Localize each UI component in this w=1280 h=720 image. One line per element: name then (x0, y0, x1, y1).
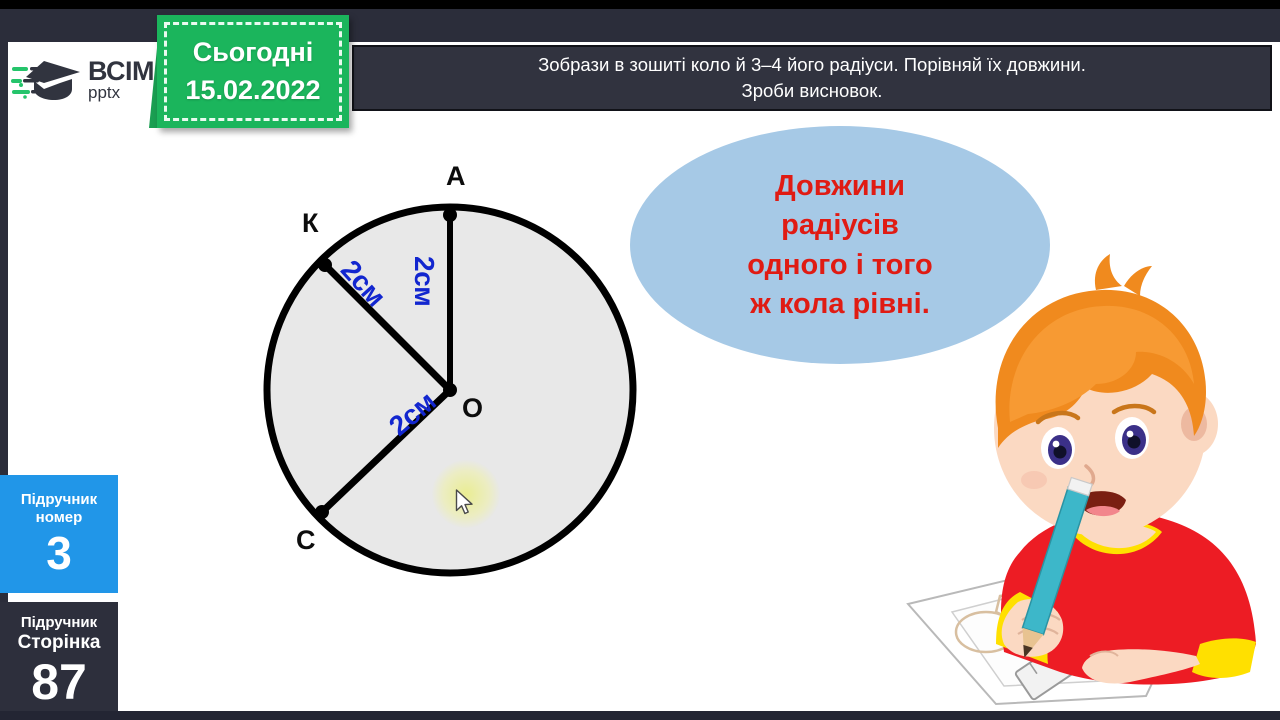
speech-bubble-text: Довжини радіусів одного і того ж кола рі… (630, 126, 1050, 364)
date-card-label: Сьогодні (193, 34, 314, 71)
speech-bubble-line-3: одного і того (747, 246, 933, 284)
brand-name: ВСІМ (88, 59, 154, 84)
textbook-page-badge-line-1: Підручник (21, 614, 97, 632)
textbook-page-badge[interactable]: Підручник Сторінка 87 (0, 602, 118, 720)
date-card: Сьогодні 15.02.2022 (157, 15, 349, 128)
brand-logo: ВСІМ pptx (10, 52, 168, 108)
top-letterbox-strip (0, 0, 1280, 9)
radius-label-a: 2см (408, 256, 440, 306)
textbook-number-badge[interactable]: Підручник номер 3 (0, 475, 118, 593)
point-label-o: O (462, 393, 483, 424)
speech-bubble-line-4: ж кола рівні. (750, 285, 930, 323)
graduation-cap-icon (10, 55, 84, 105)
task-text-line-1: Зобрази в зошиті коло й 3–4 його радіуси… (538, 52, 1086, 78)
point-k-dot (318, 258, 332, 272)
mouse-pointer-icon (455, 489, 475, 517)
task-text-line-2: Зроби висновок. (742, 78, 883, 104)
textbook-number-badge-value: 3 (46, 529, 72, 577)
speech-bubble-line-2: радіусів (781, 206, 899, 244)
speech-bubble: Довжини радіусів одного і того ж кола рі… (630, 126, 1050, 364)
task-header-bar: Зобрази в зошиті коло й 3–4 його радіуси… (352, 45, 1272, 111)
slide-stage: ВСІМ pptx Сьогодні 15.02.2022 Зобрази в … (0, 0, 1280, 720)
speech-bubble-line-1: Довжини (775, 167, 905, 205)
point-label-k: К (302, 208, 318, 239)
point-c-dot (315, 505, 329, 519)
brand-logo-text: ВСІМ pptx (88, 59, 154, 100)
textbook-number-badge-line-2: номер (36, 509, 83, 527)
date-card-value: 15.02.2022 (185, 72, 320, 109)
point-o-dot (443, 383, 457, 397)
brand-subtitle: pptx (88, 85, 154, 101)
textbook-page-badge-line-2: Сторінка (18, 632, 101, 655)
bottom-letterbox-strip (0, 711, 1280, 720)
textbook-page-badge-value: 87 (31, 656, 87, 709)
point-label-c: С (296, 525, 316, 556)
point-a-dot (443, 208, 457, 222)
textbook-number-badge-line-1: Підручник (21, 491, 97, 509)
point-label-a: A (446, 161, 466, 192)
